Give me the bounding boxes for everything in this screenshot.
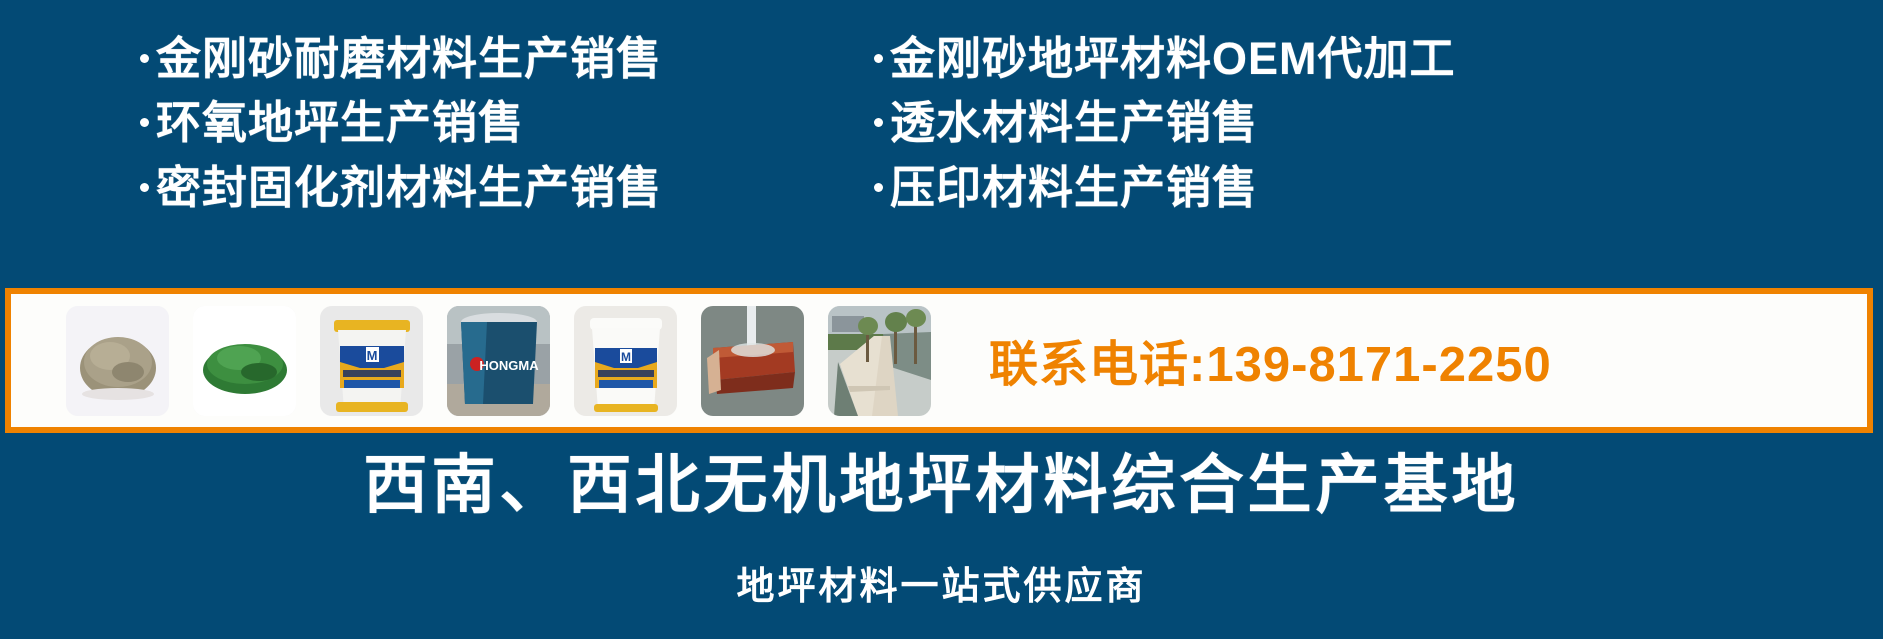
grey-abrasive-powder-photo (66, 306, 169, 416)
feature-item: 环氧地坪生产销售 (140, 98, 860, 148)
product-strip: M HONGMA (5, 288, 1873, 433)
feature-item: 金刚砂耐磨材料生产销售 (140, 34, 860, 84)
svg-text:M: M (621, 350, 631, 364)
svg-text:M: M (367, 348, 378, 363)
feature-item: 密封固化剂材料生产销售 (140, 163, 860, 213)
bullet-dot-icon (140, 54, 149, 63)
subheadline-text: 地坪材料一站式供应商 (0, 555, 1883, 610)
svg-text:HONGMA: HONGMA (479, 358, 539, 373)
bullet-dot-icon (874, 183, 883, 192)
permeable-paving-sample-photo (701, 306, 804, 416)
epoxy-coating-bucket-photo: M (574, 306, 677, 416)
feature-column-right: 金刚砂地坪材料OEM代加工 透水材料生产销售 压印材料生产销售 (874, 34, 1734, 213)
feature-item: 金刚砂地坪材料OEM代加工 (874, 34, 1734, 84)
feature-label: 金刚砂地坪材料OEM代加工 (890, 34, 1456, 84)
feature-item: 透水材料生产销售 (874, 98, 1734, 148)
feature-label: 压印材料生产销售 (890, 163, 1258, 213)
bullet-dot-icon (874, 118, 883, 127)
bullet-dot-icon (874, 54, 883, 63)
advertisement-banner: 金刚砂耐磨材料生产销售 环氧地坪生产销售 密封固化剂材料生产销售 金刚砂地坪材料… (0, 0, 1883, 639)
feature-item: 压印材料生产销售 (874, 163, 1734, 213)
feature-label: 环氧地坪生产销售 (156, 98, 524, 148)
feature-lists: 金刚砂耐磨材料生产销售 环氧地坪生产销售 密封固化剂材料生产销售 金刚砂地坪材料… (0, 34, 1883, 274)
bullet-dot-icon (140, 118, 149, 127)
feature-column-left: 金刚砂耐磨材料生产销售 环氧地坪生产销售 密封固化剂材料生产销售 (140, 34, 860, 213)
feature-label: 金刚砂耐磨材料生产销售 (156, 34, 662, 84)
green-abrasive-powder-photo (193, 306, 296, 416)
hongma-drum-photo: HONGMA (447, 306, 550, 416)
feature-label: 密封固化剂材料生产销售 (156, 163, 662, 213)
sealer-bucket-photo: M (320, 306, 423, 416)
contact-phone: 联系电话:139-8171-2250 (989, 325, 1552, 396)
bullet-dot-icon (140, 183, 149, 192)
feature-label: 透水材料生产销售 (890, 98, 1258, 148)
headline-text: 西南、西北无机地坪材料综合生产基地 (0, 450, 1883, 520)
stamped-concrete-walkway-photo (828, 306, 931, 416)
product-thumbnail-row: M HONGMA (66, 306, 931, 416)
